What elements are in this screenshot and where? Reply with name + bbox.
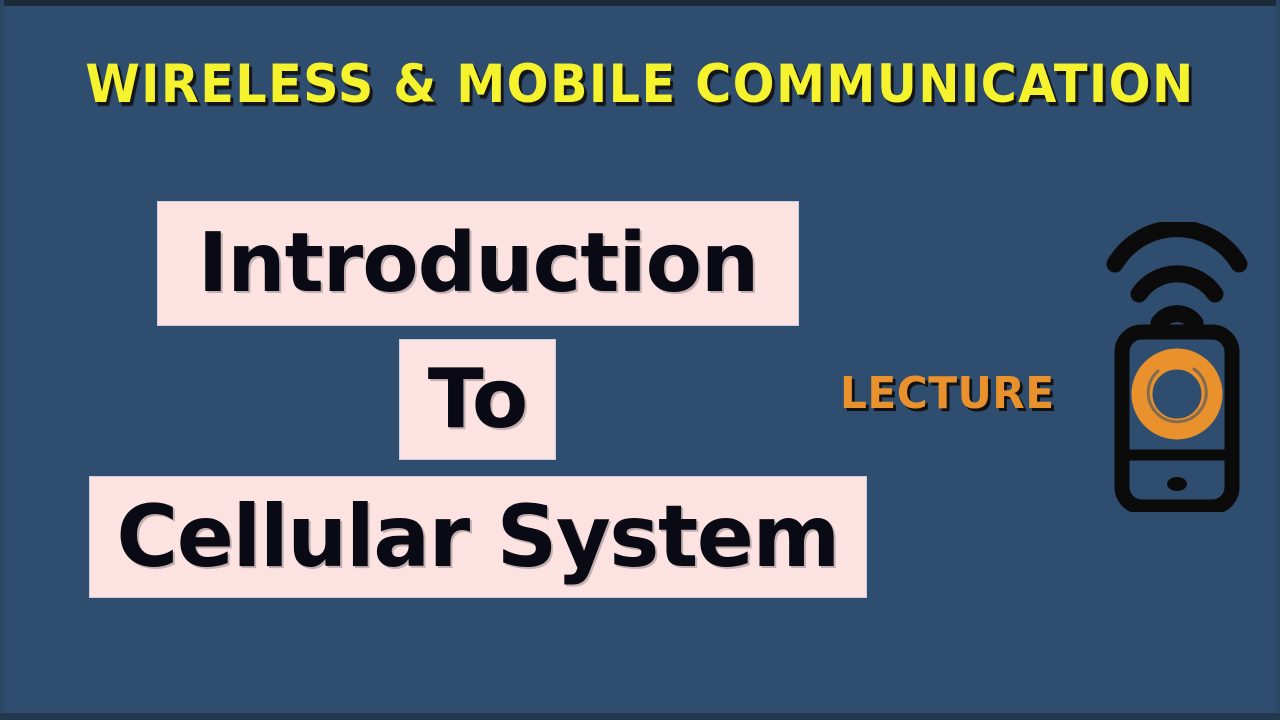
smartphone-wifi-icon: O — [1095, 222, 1270, 512]
letterbox-bottom-bar — [0, 713, 1280, 720]
headline-box-cellular-system: Cellular System — [89, 476, 867, 598]
headline-box-to: To — [399, 339, 556, 460]
letterbox-right-edge — [1276, 0, 1280, 720]
orange-circle-icon — [1138, 355, 1214, 430]
wifi-signal-icon — [1115, 229, 1239, 323]
lecture-label: LECTURE — [840, 368, 1055, 419]
course-title: WIRELESS & MOBILE COMMUNICATION — [45, 57, 1235, 113]
headline-box-introduction: Introduction — [157, 201, 799, 326]
headline-text-cellular-system: Cellular System — [117, 494, 839, 580]
letterbox-left-edge — [0, 0, 4, 720]
headline-text-introduction: Introduction — [198, 223, 759, 305]
letterbox-top-bar — [0, 0, 1280, 6]
headline-text-to: To — [428, 359, 527, 441]
slide-canvas: WIRELESS & MOBILE COMMUNICATION Introduc… — [0, 0, 1280, 720]
